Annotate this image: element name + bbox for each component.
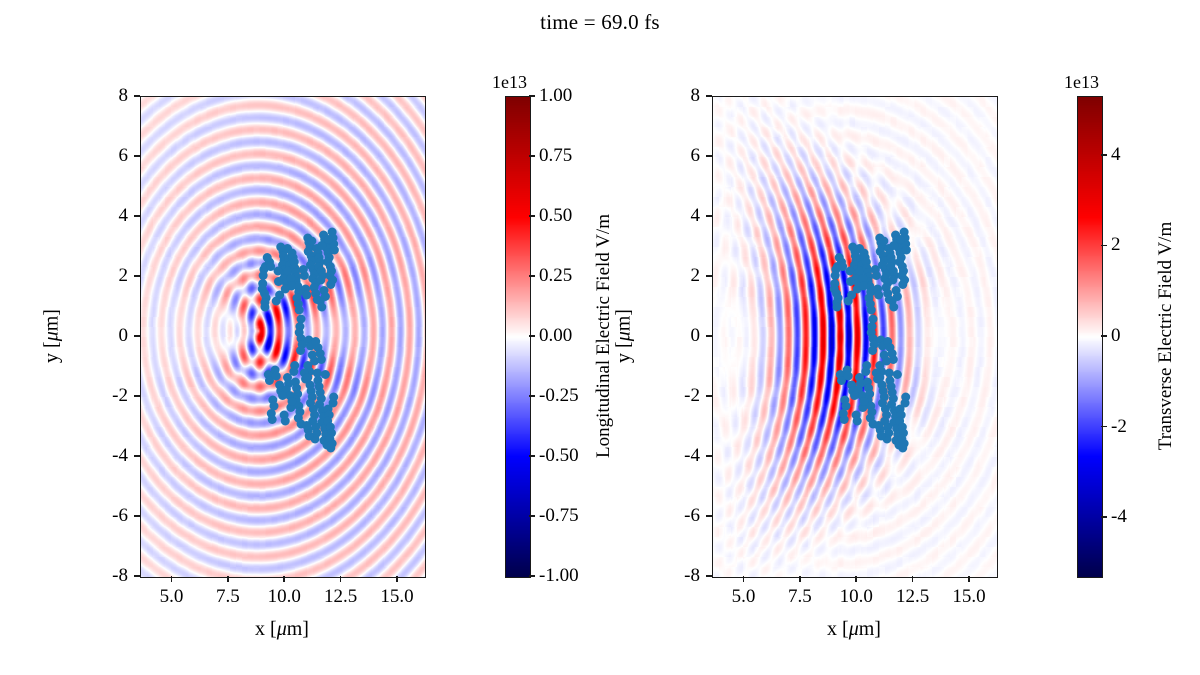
y-tick-mark	[134, 395, 140, 397]
y-tick-mark	[134, 515, 140, 517]
colorbar-offset-longitudinal: 1e13	[492, 72, 527, 93]
colorbar-tick-label: 2	[1111, 234, 1121, 256]
y-tick-mark	[706, 155, 712, 157]
y-tick-label: 4	[646, 205, 700, 227]
y-tick-label: 8	[74, 85, 128, 107]
x-tick-mark	[171, 576, 173, 582]
x-tick-label: 5.0	[160, 586, 184, 608]
figure-title: time = 69.0 fs	[0, 10, 1200, 35]
y-tick-label: 0	[74, 325, 128, 347]
colorbar-tick-mark	[1101, 426, 1107, 427]
x-tick-label: 5.0	[732, 586, 756, 608]
figure-root: time = 69.0 fs 86420-2-4-6-85.07.510.012…	[0, 0, 1200, 675]
colorbar-transverse	[1077, 96, 1103, 578]
y-tick-label: -8	[646, 565, 700, 587]
y-tick-label: 6	[74, 145, 128, 167]
colorbar-tick-mark	[529, 575, 535, 576]
x-tick-mark	[743, 576, 745, 582]
x-tick-mark	[799, 576, 801, 582]
x-tick-mark	[396, 576, 398, 582]
colorbar-tick-mark	[529, 515, 535, 516]
x-tick-mark	[855, 576, 857, 582]
x-tick-mark	[340, 576, 342, 582]
colorbar-tick-label: 0.50	[539, 205, 572, 227]
colorbar-offset-transverse: 1e13	[1064, 72, 1099, 93]
colorbar-tick-label: 0.75	[539, 145, 572, 167]
y-tick-mark	[134, 95, 140, 97]
y-tick-mark	[706, 215, 712, 217]
colorbar-tick-mark	[529, 275, 535, 276]
colorbar-tick-label: -0.75	[539, 505, 579, 527]
colorbar-tick-mark	[1101, 154, 1107, 155]
y-tick-mark	[134, 335, 140, 337]
x-tick-label: 12.5	[324, 586, 357, 608]
y-tick-label: -2	[646, 385, 700, 407]
x-tick-label: 15.0	[380, 586, 413, 608]
y-tick-label: -4	[646, 445, 700, 467]
x-tick-mark	[283, 576, 285, 582]
y-tick-label: -4	[74, 445, 128, 467]
particle-scatter-transverse	[713, 97, 997, 577]
y-tick-mark	[706, 335, 712, 337]
colorbar-tick-label: 4	[1111, 144, 1121, 166]
y-tick-mark	[706, 515, 712, 517]
y-tick-mark	[134, 575, 140, 577]
y-tick-mark	[134, 215, 140, 217]
colorbar-tick-label: -0.50	[539, 445, 579, 467]
colorbar-tick-mark	[1101, 516, 1107, 517]
y-tick-mark	[706, 455, 712, 457]
colorbar-gradient-longitudinal	[506, 97, 530, 577]
x-tick-mark	[968, 576, 970, 582]
x-tick-label: 12.5	[896, 586, 929, 608]
colorbar-tick-mark	[529, 335, 535, 336]
x-tick-label: 7.5	[788, 586, 812, 608]
y-axis-title-transverse: y [μm]	[613, 309, 636, 363]
y-tick-label: 2	[646, 265, 700, 287]
colorbar-tick-mark	[1101, 245, 1107, 246]
colorbar-tick-mark	[529, 215, 535, 216]
colorbar-tick-label: -0.25	[539, 385, 579, 407]
x-tick-label: 15.0	[952, 586, 985, 608]
y-tick-label: 6	[646, 145, 700, 167]
colorbar-title-transverse: Transverse Electric Field V/m	[1155, 222, 1177, 451]
y-tick-mark	[134, 275, 140, 277]
y-tick-label: -2	[74, 385, 128, 407]
axes-transverse	[712, 96, 998, 578]
y-tick-label: -8	[74, 565, 128, 587]
y-tick-label: -6	[74, 505, 128, 527]
colorbar-tick-label: -2	[1111, 416, 1127, 438]
y-axis-title-longitudinal: y [μm]	[41, 309, 64, 363]
x-tick-mark	[227, 576, 229, 582]
x-tick-label: 10.0	[268, 586, 301, 608]
y-tick-mark	[706, 395, 712, 397]
colorbar-gradient-transverse	[1078, 97, 1102, 577]
x-axis-title-longitudinal: x [μm]	[255, 618, 309, 641]
y-tick-mark	[706, 575, 712, 577]
y-tick-label: 2	[74, 265, 128, 287]
y-tick-mark	[706, 95, 712, 97]
axes-longitudinal	[140, 96, 426, 578]
colorbar-tick-label: -1.00	[539, 565, 579, 587]
colorbar-tick-label: 0	[1111, 325, 1121, 347]
colorbar-tick-label: 0.25	[539, 265, 572, 287]
colorbar-longitudinal	[505, 96, 531, 578]
colorbar-tick-label: 1.00	[539, 85, 572, 107]
colorbar-tick-mark	[529, 455, 535, 456]
y-tick-label: -6	[646, 505, 700, 527]
colorbar-tick-mark	[1101, 335, 1107, 336]
x-tick-label: 10.0	[840, 586, 873, 608]
x-axis-title-transverse: x [μm]	[827, 618, 881, 641]
y-tick-mark	[134, 455, 140, 457]
particle-scatter-longitudinal	[141, 97, 425, 577]
colorbar-tick-label: 0.00	[539, 325, 572, 347]
x-tick-label: 7.5	[216, 586, 240, 608]
y-tick-label: 0	[646, 325, 700, 347]
y-tick-mark	[706, 275, 712, 277]
y-tick-mark	[134, 155, 140, 157]
x-tick-mark	[912, 576, 914, 582]
colorbar-tick-mark	[529, 395, 535, 396]
colorbar-tick-mark	[529, 95, 535, 96]
colorbar-tick-mark	[529, 155, 535, 156]
colorbar-tick-label: -4	[1111, 506, 1127, 528]
y-tick-label: 4	[74, 205, 128, 227]
y-tick-label: 8	[646, 85, 700, 107]
